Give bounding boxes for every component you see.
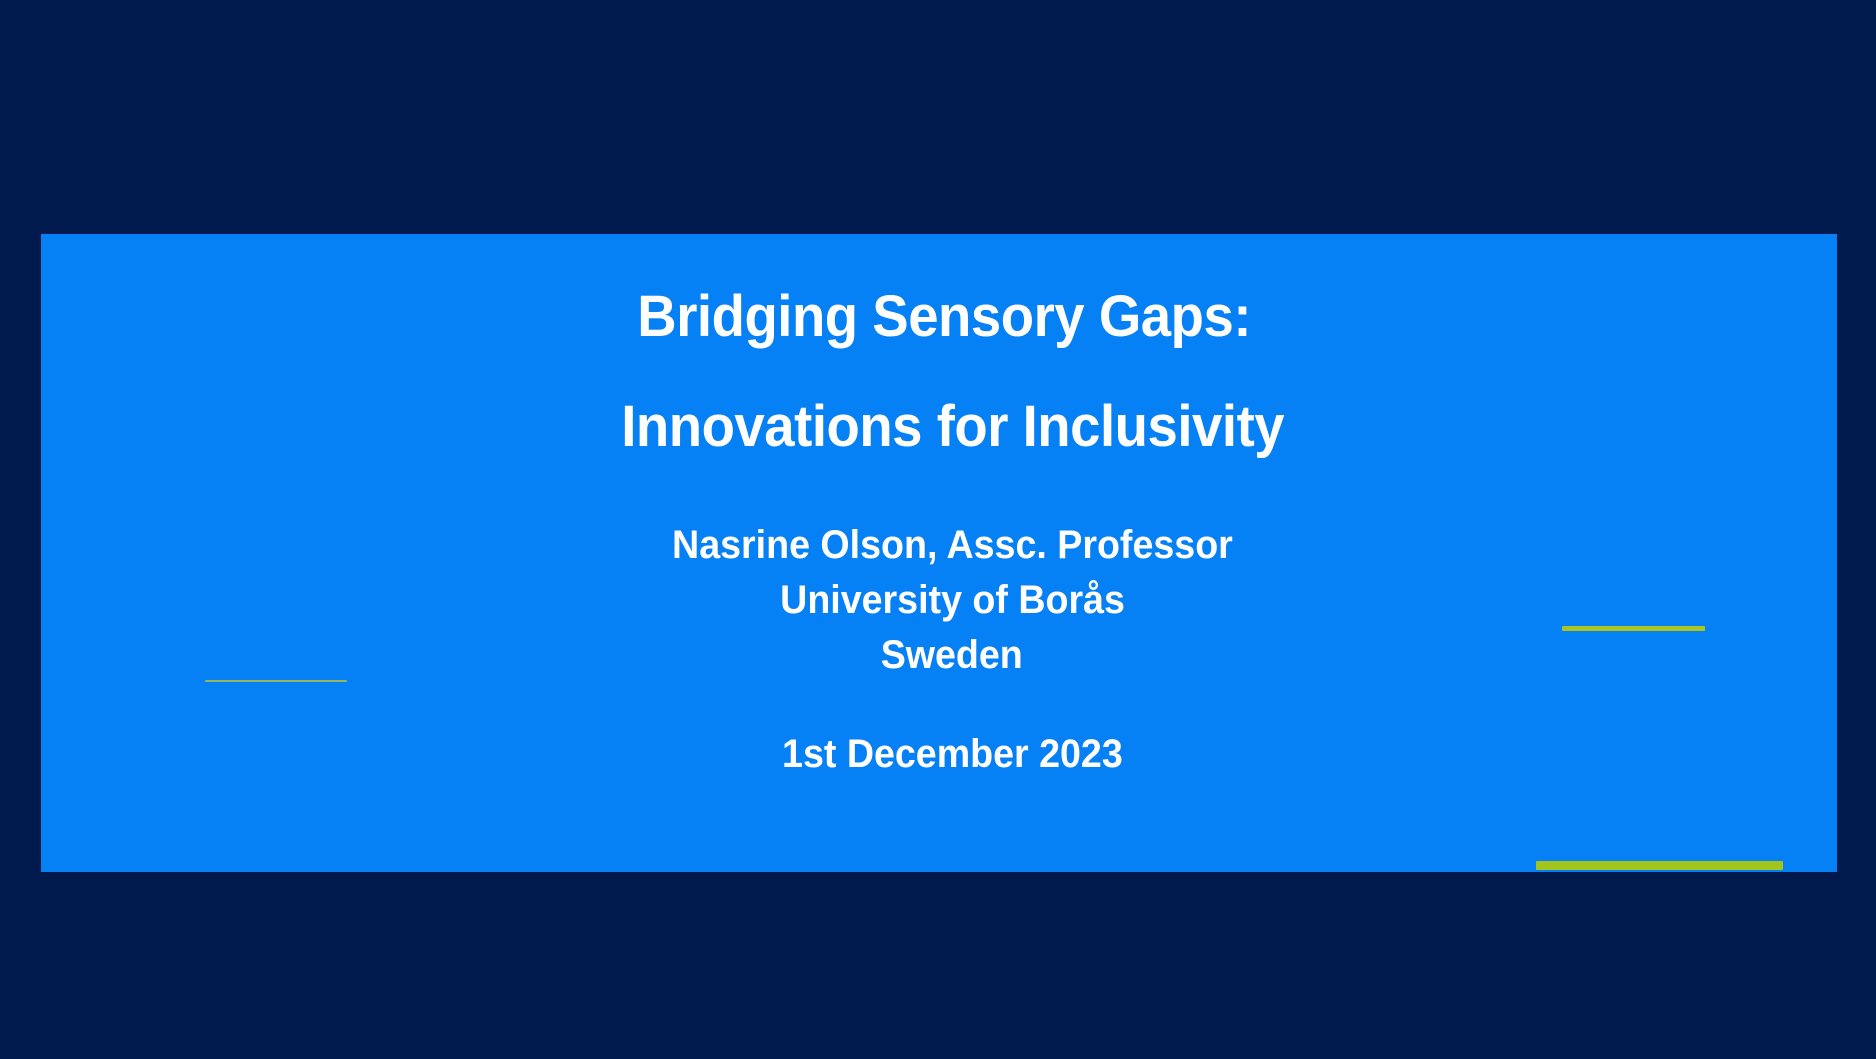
- accent-rule-bottom-right-decoration: [1536, 861, 1783, 870]
- author-institution: University of Borås: [753, 573, 1124, 628]
- accent-rule-left-decoration: [205, 680, 347, 682]
- slide-title-line-2: Innovations for Inclusivity: [593, 398, 1284, 456]
- slide-canvas: Bridging Sensory Gaps: Innovations for I…: [0, 0, 1876, 1059]
- slide-author-block: Nasrine Olson, Assc. Professor Universit…: [627, 518, 1252, 684]
- author-country: Sweden: [855, 628, 1023, 683]
- slide-text-stack: Bridging Sensory Gaps: Innovations for I…: [41, 234, 1837, 872]
- accent-rule-top-right-decoration: [1562, 626, 1705, 631]
- slide-title-line-1: Bridging Sensory Gaps:: [627, 288, 1250, 346]
- slide-date: 1st December 2023: [755, 734, 1122, 774]
- slide-content-panel: Bridging Sensory Gaps: Innovations for I…: [41, 234, 1837, 872]
- author-name-and-role: Nasrine Olson, Assc. Professor: [645, 518, 1232, 573]
